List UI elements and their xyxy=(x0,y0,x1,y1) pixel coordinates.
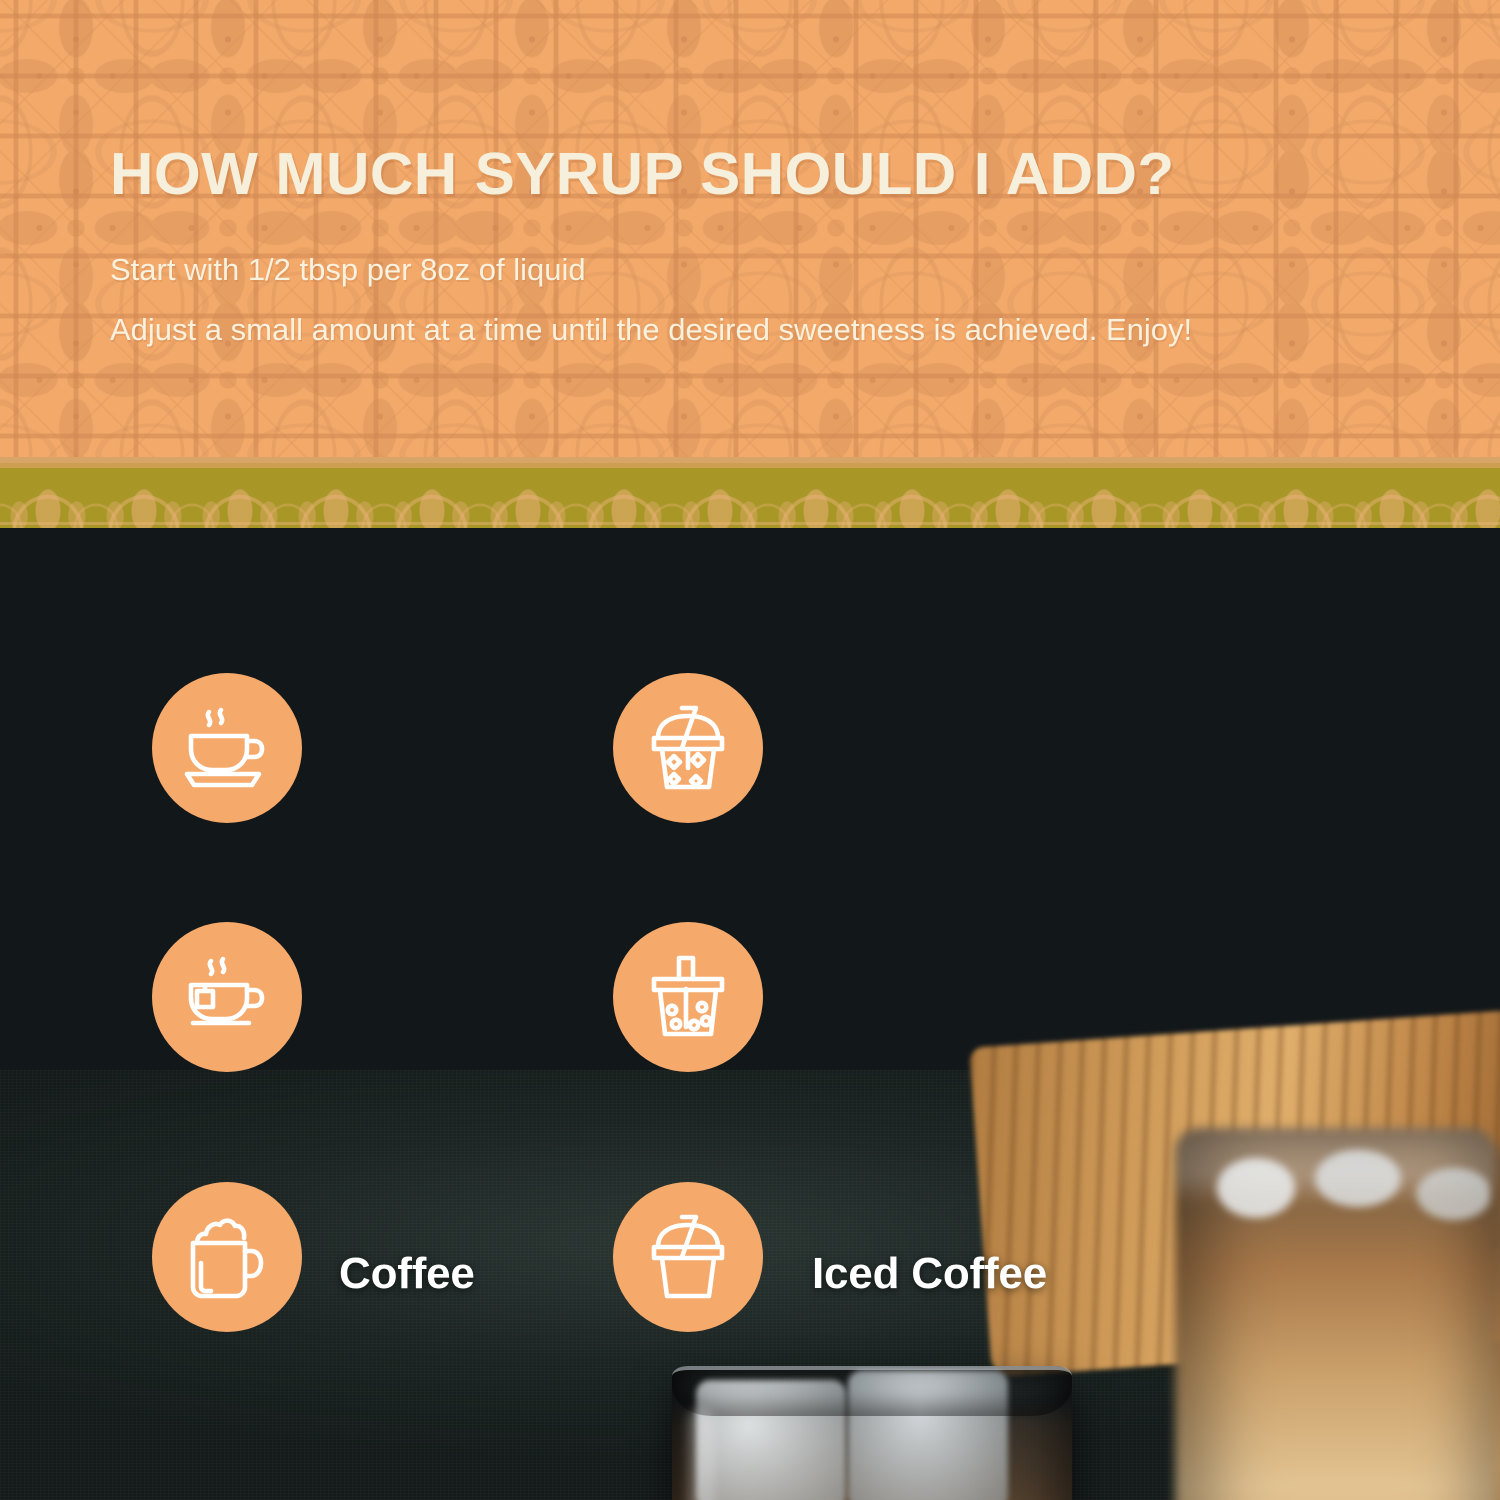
smoothie-cup-icon xyxy=(636,1205,740,1309)
iced-coffee-cup-icon xyxy=(636,696,740,800)
instruction-line-1: Start with 1/2 tbsp per 8oz of liquid xyxy=(110,252,586,288)
tea-cup-icon xyxy=(175,945,279,1049)
drink-icon-circle-smoothie[interactable] xyxy=(613,1182,763,1332)
hot-coffee-cup-icon xyxy=(175,696,279,800)
drink-label-coffee: Coffee xyxy=(339,1249,475,1299)
green-ornament-band xyxy=(0,463,1500,528)
product-photo-area: Coffee Iced Coffee xyxy=(0,528,1500,1500)
cocoa-mug-icon xyxy=(175,1205,279,1309)
infographic-page: HOW MUCH SYRUP SHOULD I ADD? Start with … xyxy=(0,0,1500,1500)
header-banner: HOW MUCH SYRUP SHOULD I ADD? Start with … xyxy=(0,0,1500,458)
drink-icon-circle-iced-coffee[interactable] xyxy=(613,673,763,823)
hero-glass-highlight xyxy=(688,1408,714,1500)
drink-icon-circle-coffee[interactable] xyxy=(152,673,302,823)
green-band-baseline xyxy=(0,463,1500,528)
instruction-line-2: Adjust a small amount at a time until th… xyxy=(110,312,1192,348)
drink-icon-circle-boba[interactable] xyxy=(613,922,763,1072)
boba-cup-icon xyxy=(636,945,740,1049)
drink-icon-circle-tea[interactable] xyxy=(152,922,302,1072)
hero-glass-rim xyxy=(672,1366,1072,1416)
ornament-pattern-crosses xyxy=(0,0,1500,458)
page-title: HOW MUCH SYRUP SHOULD I ADD? xyxy=(110,140,1175,208)
drink-icon-circle-hot-cocoa[interactable] xyxy=(152,1182,302,1332)
background-glass-ice xyxy=(1190,1128,1490,1248)
drink-label-iced-coffee: Iced Coffee xyxy=(812,1249,1047,1299)
